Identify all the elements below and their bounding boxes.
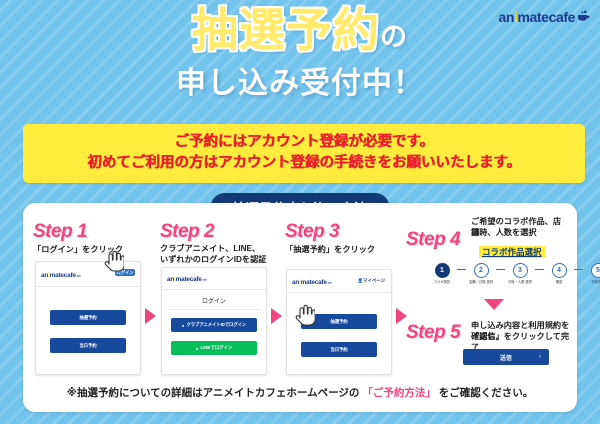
- steps-card: Step 1 「ログイン」をクリック animatecafe☕ ログイン 抽選予…: [23, 203, 577, 412]
- step-1-title: Step 1: [33, 221, 87, 243]
- step-2-club-label: クラブアニメイトIDでログイン: [186, 322, 246, 328]
- step-2-title: Step 2: [160, 221, 214, 243]
- step-4-title: Step 4: [406, 229, 460, 251]
- stepper-circle-5: 5: [591, 263, 600, 278]
- chevron-right-icon: ›: [539, 354, 541, 360]
- stepper-connector-1: [457, 269, 466, 270]
- stepper-circle-4: 4: [552, 263, 567, 278]
- stepper-node-3[interactable]: 3 日時・人数 選択: [505, 263, 535, 284]
- stepper-label-3: 日時・人数 選択: [508, 280, 532, 284]
- stepper-label-1: コラボ選択: [434, 280, 450, 284]
- step-2-mock-club-login-button[interactable]: ●クラブアニメイトIDでログイン: [171, 318, 257, 332]
- stepper-circle-2: 2: [474, 263, 489, 278]
- page-title: 抽選予約の 申し込み受付中！: [0, 6, 600, 102]
- step-3-mypage-label: マイページ: [363, 278, 385, 283]
- mock3-logo-an: an: [292, 279, 299, 286]
- stepper-node-4[interactable]: 4 確認: [544, 263, 574, 284]
- step-2-desc-2: いずれかのログインIDを認証: [160, 254, 266, 265]
- stepper-label-5: 予約完了: [591, 280, 600, 284]
- step-arrow-4-to-5: [484, 299, 504, 310]
- footnote-after: をご確認ください。: [436, 387, 533, 399]
- mock3-logo-rest: matecafe: [301, 279, 327, 286]
- step-3-title: Step 3: [285, 221, 339, 243]
- step-arrow-1-to-2: [145, 308, 156, 324]
- step-1-mockup: animatecafe☕ ログイン 抽選予約 当日予約: [35, 261, 141, 375]
- step-2-mock-line-login-button[interactable]: ●LINEでログイン: [171, 341, 257, 355]
- person-icon: ●: [182, 323, 185, 328]
- step-3-mockup: animatecafe☕ 👤マイページ 抽選予約 当日予約: [286, 269, 392, 375]
- step-2-mockup: animatecafe☕ ログイン ●クラブアニメイトIDでログイン ●LINE…: [161, 267, 267, 375]
- mock1-logo-an: an: [41, 272, 48, 279]
- stepper-label-4: 確認: [556, 280, 563, 284]
- step-3-mock-logo: animatecafe☕: [292, 278, 332, 286]
- stepper-node-5[interactable]: 5 予約完了: [583, 263, 600, 284]
- stepper-label-2: 店舗・日程 選択: [469, 280, 493, 284]
- step-2-line-label: LINEでログイン: [200, 345, 232, 351]
- pointing-hand-icon-2: [293, 302, 315, 326]
- stepper-circle-3: 3: [513, 263, 528, 278]
- pointing-hand-icon: [102, 248, 124, 272]
- mock2-logo-an: an: [167, 276, 174, 283]
- step-4-highlight-wrap: コラボ作品選択: [479, 242, 545, 260]
- step-1-mock-logo: animatecafe☕: [41, 271, 81, 279]
- step-3-mock-button-sameday[interactable]: 当日予約: [301, 342, 377, 357]
- stepper-node-1[interactable]: 1 コラボ選択: [427, 263, 457, 284]
- mock2-logo-rest: matecafe: [176, 276, 202, 283]
- line-icon: ●: [196, 346, 199, 351]
- stepper-circle-1: 1: [435, 263, 450, 278]
- title-main-line: 抽選予約の: [0, 6, 600, 56]
- step-4-desc-2: 日時、人数を選択: [471, 227, 537, 238]
- mock1-logo-rest: matecafe: [50, 272, 76, 279]
- notice-line-2: 初めてご利用の方はアカウント登録の手続きをお願いいたします。: [27, 153, 581, 174]
- stepper-connector-4: [574, 269, 583, 270]
- step-1-mock-button-sameday[interactable]: 当日予約: [50, 338, 126, 353]
- step-2-desc-1: クラブアニメイト、LINE、: [160, 243, 260, 254]
- stepper-connector-2: [496, 269, 505, 270]
- title-sub: 申し込み受付中！: [0, 58, 600, 102]
- step-5-title: Step 5: [406, 322, 460, 344]
- step-1-mock-button-lottery[interactable]: 抽選予約: [50, 310, 126, 325]
- step-4-progress-stepper: 1 コラボ選択 2 店舗・日程 選択 3 日時・人数 選択 4 確認 5 予約完…: [427, 263, 600, 284]
- step-arrow-2-to-3: [271, 308, 282, 324]
- footnote: ※抽選予約についての詳細はアニメイトカフェホームページの 「ご予約方法」 をご確…: [23, 385, 577, 400]
- step-3-mock-mypage-link[interactable]: 👤マイページ: [358, 278, 385, 284]
- step-5-send-button[interactable]: 送信 ›: [463, 349, 549, 365]
- notice-line-1: ご予約にはアカウント登録が必要です。: [27, 132, 581, 153]
- account-notice-box: ご予約にはアカウント登録が必要です。 初めてご利用の方はアカウント登録の手続きを…: [23, 124, 585, 183]
- step-2-mock-logo: animatecafe☕: [167, 275, 207, 283]
- step-4-highlight: コラボ作品選択: [479, 246, 545, 258]
- title-main: 抽選予約: [192, 4, 380, 56]
- title-particle: の: [380, 22, 408, 52]
- stepper-node-2[interactable]: 2 店舗・日程 選択: [466, 263, 496, 284]
- footnote-before: ※抽選予約についての詳細はアニメイトカフェホームページの: [67, 387, 363, 399]
- step-3-desc: 「抽選予約」をクリック: [285, 244, 375, 255]
- step-2-mock-heading: ログイン: [162, 296, 266, 305]
- step-5-send-label: 送信: [500, 353, 512, 362]
- footnote-highlight: 「ご予約方法」: [362, 387, 436, 399]
- stepper-connector-3: [535, 269, 544, 270]
